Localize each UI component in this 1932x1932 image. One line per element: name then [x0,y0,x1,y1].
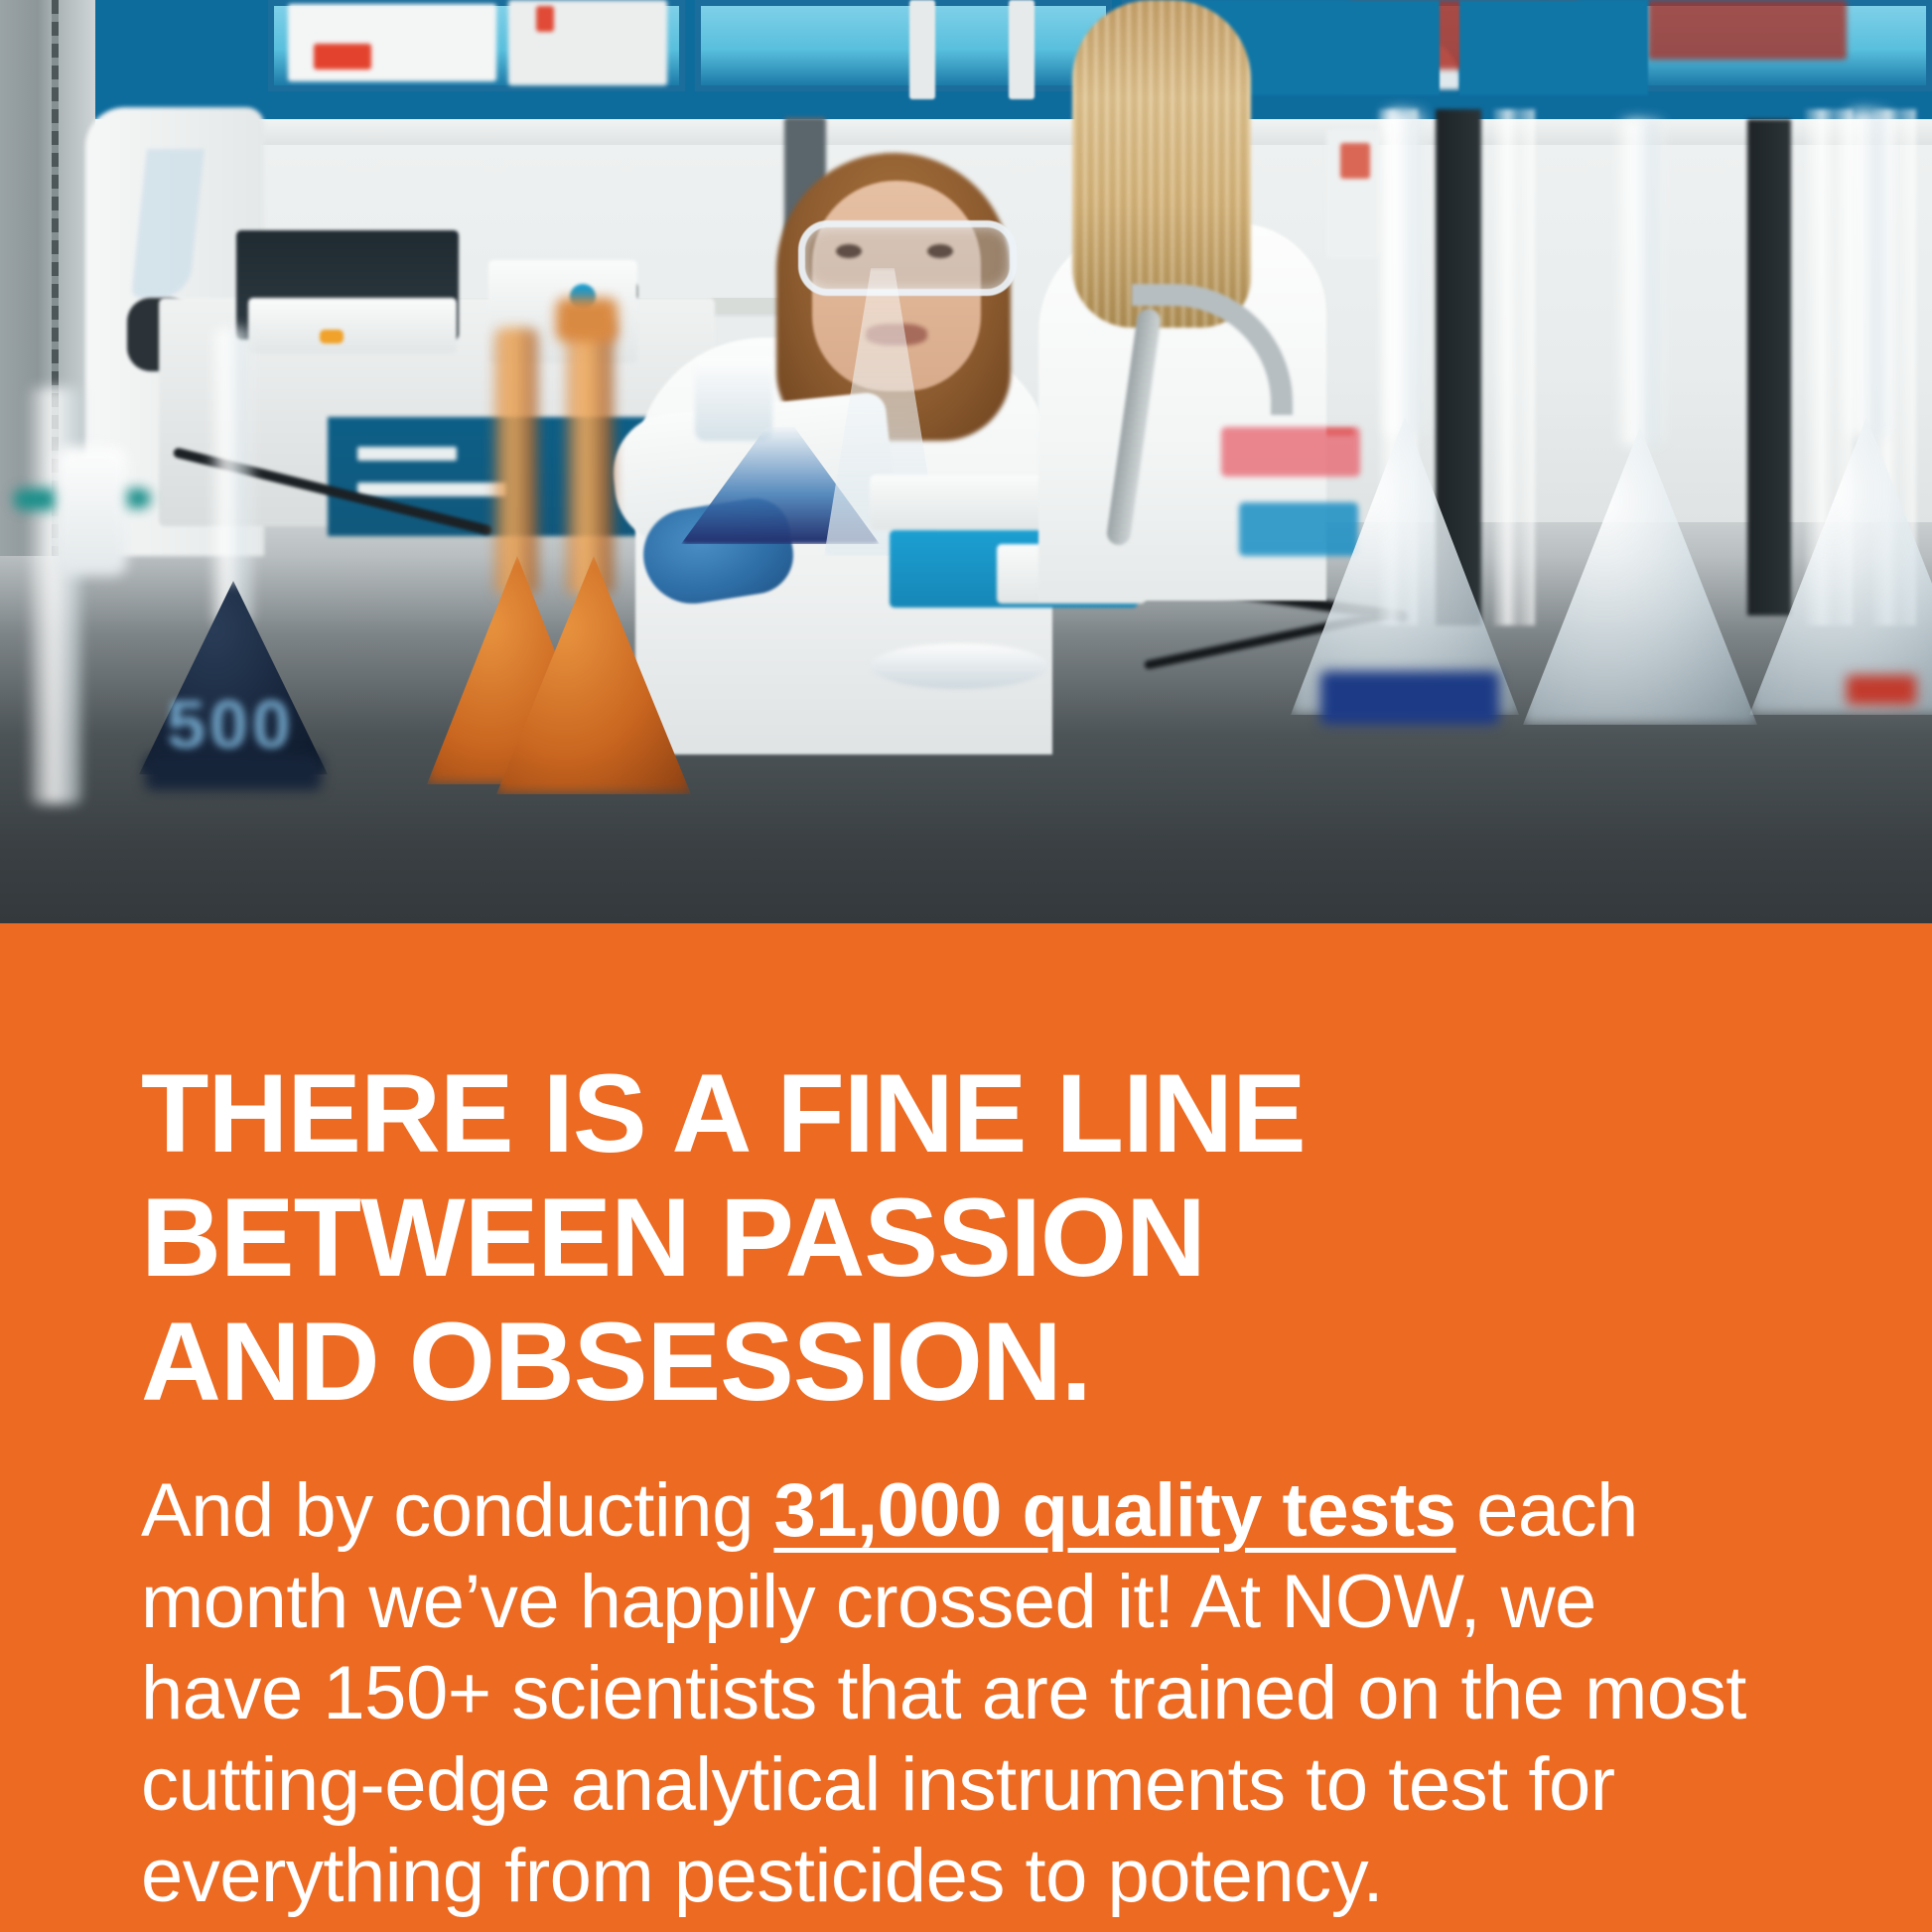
orange-content-panel: THERE IS A FINE LINE BETWEEN PASSION AND… [0,923,1932,1932]
beaker-clear [695,357,772,441]
upper-cabinet-right-2 [1459,0,1648,95]
body-paragraph: And by conducting 31,000 quality tests e… [141,1465,1769,1922]
cabinet-box-red-label [314,44,371,69]
instrument-panel [248,298,457,353]
headline-line-2: BETWEEN PASSION [141,1175,1630,1300]
scientist-center-eye-left [836,244,862,258]
cabinet-label-2 [357,483,506,496]
quality-tests-highlight: 31,000 quality tests [773,1468,1455,1553]
cabinet-box-white-2 [508,0,667,85]
dark-column-2 [1747,119,1791,616]
cabinet-label-1 [357,447,457,461]
wall-indicator-lights [1340,143,1370,179]
flask-base-500 [145,755,322,790]
volumetric-flask-neck-left [212,328,252,625]
amber-flask-neck-2 [566,318,614,596]
safety-goggles-icon [798,220,1017,296]
body-text-before: And by conducting [141,1468,773,1553]
glass-column-2 [1493,109,1535,625]
cabinet-red-rack-2 [1648,0,1847,60]
clear-flask-neck-right-3 [1845,109,1890,437]
cabinet-red-marker [536,6,554,32]
scientist-right-hair [1072,0,1251,328]
clear-flask-neck-right-1 [1382,109,1426,437]
cabinet-box-white [288,4,496,81]
flask-blue-liquid-right [1320,671,1499,725]
flask-red-label-right [1847,675,1916,705]
amber-flask-stopper [556,298,618,342]
headline-line-3: AND OBSESSION. [141,1300,1630,1424]
clear-flask-neck-right-2 [1618,119,1664,447]
amber-flask-neck-1 [494,328,538,596]
promo-card: 500 THERE IS A FINE LINE BETWEEN PASSION… [0,0,1932,1932]
scientist-center-eye-right [927,244,953,258]
petri-dish [870,643,1048,689]
cylinder-white-top [56,447,127,576]
page-title: THERE IS A FINE LINE BETWEEN PASSION AND… [141,1051,1630,1424]
lab-photo: 500 [0,0,1932,923]
shelf-red-items [1221,427,1360,477]
instrument-led [320,330,344,344]
headline-line-1: THERE IS A FINE LINE [141,1051,1630,1175]
cabinet-bottle-1 [909,0,935,99]
shelf-blue-items [1239,502,1358,556]
flask-volume-label: 500 [167,685,295,764]
